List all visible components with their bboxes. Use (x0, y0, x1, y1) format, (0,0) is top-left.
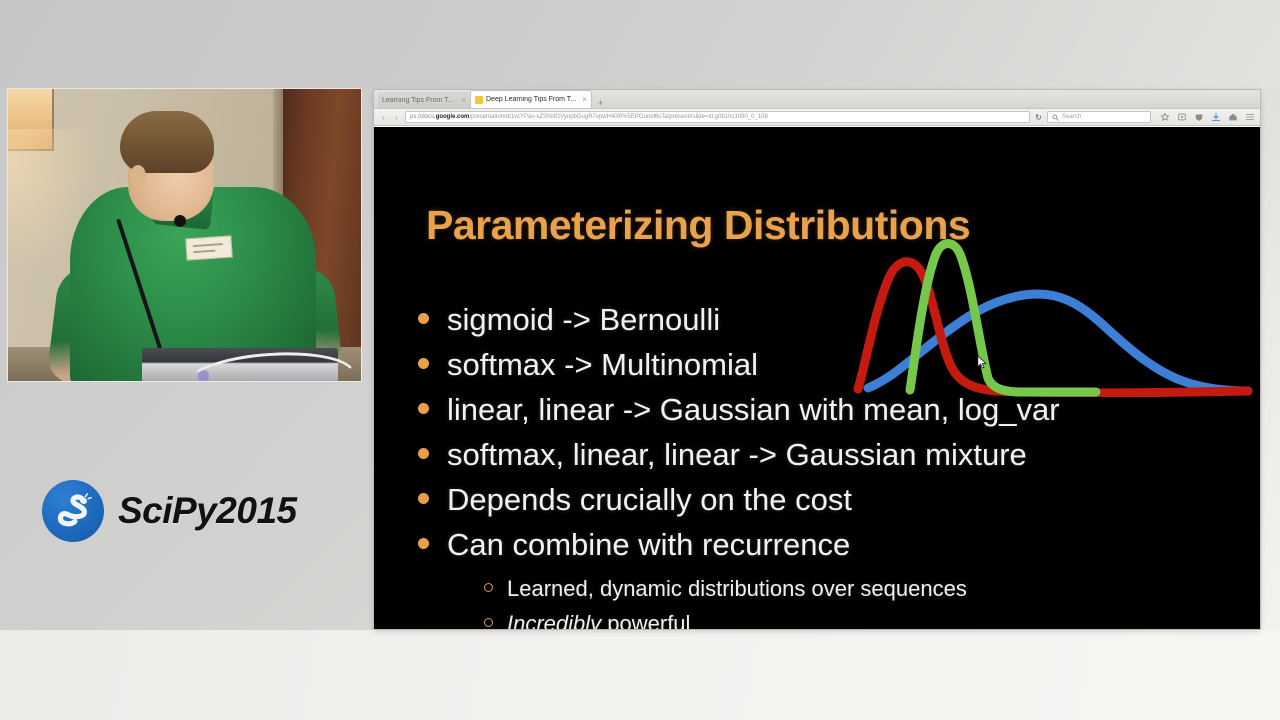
list-item: Can combine with recurrence (418, 522, 1248, 567)
badge-line-1 (193, 243, 223, 247)
browser-window: Learning Tips From T... × Deep Learning … (374, 90, 1260, 629)
url-path: /presentation/d/1vcYPav-xZShbfGVynpbGugR… (469, 114, 767, 120)
bullet-ring-icon (484, 618, 493, 627)
sub-bullet-text: Incredibly powerful (507, 606, 690, 629)
name-badge (185, 235, 232, 260)
close-icon[interactable]: × (458, 96, 466, 105)
bullet-dot-icon (418, 538, 429, 549)
presentation-slide[interactable]: Parameterizing Distributions sigmoid -> … (374, 127, 1260, 629)
list-item: linear, linear -> Gaussian with mean, lo… (418, 387, 1248, 432)
backdrop-bottom (0, 630, 1280, 720)
list-item: sigmoid -> Bernoulli (418, 297, 1248, 342)
search-input[interactable]: Search (1047, 111, 1151, 123)
bullet-dot-icon (418, 403, 429, 414)
bullet-text: Depends crucially on the cost (447, 477, 852, 522)
list-item: softmax, linear, linear -> Gaussian mixt… (418, 432, 1248, 477)
backdrop-top (0, 0, 1280, 88)
slide-sub-bullet-list: Learned, dynamic distributions over sequ… (484, 571, 1248, 629)
url-host: google.com (436, 114, 470, 120)
mouse-pointer (977, 355, 987, 370)
scipy-wordmark: SciPy2015 (118, 490, 297, 532)
bullet-dot-icon (418, 313, 429, 324)
sub-bullet-text: Learned, dynamic distributions over sequ… (507, 571, 967, 606)
lapel-microphone (174, 215, 186, 227)
bullet-text: softmax -> Multinomial (447, 342, 758, 387)
speaker-hair (120, 111, 214, 173)
browser-tabstrip: Learning Tips From T... × Deep Learning … (374, 90, 1260, 109)
speaker-ear (130, 165, 146, 187)
back-icon[interactable]: ‹ (379, 113, 388, 122)
scipy-mark-icon (42, 480, 104, 542)
bullet-text: linear, linear -> Gaussian with mean, lo… (447, 387, 1060, 432)
scipy-logo: SciPy2015 (42, 480, 297, 542)
new-tab-button[interactable]: + (592, 98, 609, 108)
tab-learning-tips[interactable]: Learning Tips From T... × (378, 92, 470, 108)
bullet-dot-icon (418, 358, 429, 369)
browser-navbar: ‹ › ps://docs.google.com/presentation/d/… (374, 109, 1260, 126)
tab-deep-learning-tips[interactable]: Deep Learning Tips From T... × (470, 90, 592, 108)
url-scheme: ps://docs. (410, 114, 436, 120)
bullet-ring-icon (484, 583, 493, 592)
menu-icon[interactable] (1245, 112, 1255, 122)
tab-label: Learning Tips From T... (382, 97, 453, 104)
slide-bullet-list: sigmoid -> Bernoulli softmax -> Multinom… (418, 297, 1248, 629)
sub-list-item: Incredibly powerful (484, 606, 1248, 629)
reload-icon[interactable]: ↻ (1034, 113, 1043, 122)
download-arrow-icon[interactable] (1211, 112, 1221, 122)
sub-bullet-emphasis: Incredibly (507, 611, 601, 629)
badge-line-2 (193, 250, 215, 254)
search-icon (1052, 114, 1059, 121)
sub-bullet-rest: powerful (601, 611, 690, 629)
list-item: softmax -> Multinomial (418, 342, 1248, 387)
close-icon[interactable]: × (579, 95, 587, 104)
bullet-text: softmax, linear, linear -> Gaussian mixt… (447, 432, 1027, 477)
url-input[interactable]: ps://docs.google.com/presentation/d/1vcY… (405, 111, 1030, 123)
forward-icon[interactable]: › (392, 113, 401, 122)
search-placeholder: Search (1062, 114, 1081, 120)
browser-toolbar-icons (1155, 112, 1255, 122)
pocket-icon[interactable] (1177, 112, 1187, 122)
shield-icon[interactable] (1194, 112, 1204, 122)
bullet-dot-icon (418, 448, 429, 459)
favicon-icon (475, 96, 483, 104)
star-bookmark-icon[interactable] (1160, 112, 1170, 122)
bullet-text: Can combine with recurrence (447, 522, 850, 567)
conference-speaker-video (8, 89, 361, 381)
tab-label: Deep Learning Tips From T... (486, 96, 576, 103)
bullet-dot-icon (418, 493, 429, 504)
scipy-snake-icon (54, 492, 92, 530)
home-icon[interactable] (1228, 112, 1238, 122)
bullet-text: sigmoid -> Bernoulli (447, 297, 720, 342)
sub-list-item: Learned, dynamic distributions over sequ… (484, 571, 1248, 606)
list-item: Depends crucially on the cost (418, 477, 1248, 522)
